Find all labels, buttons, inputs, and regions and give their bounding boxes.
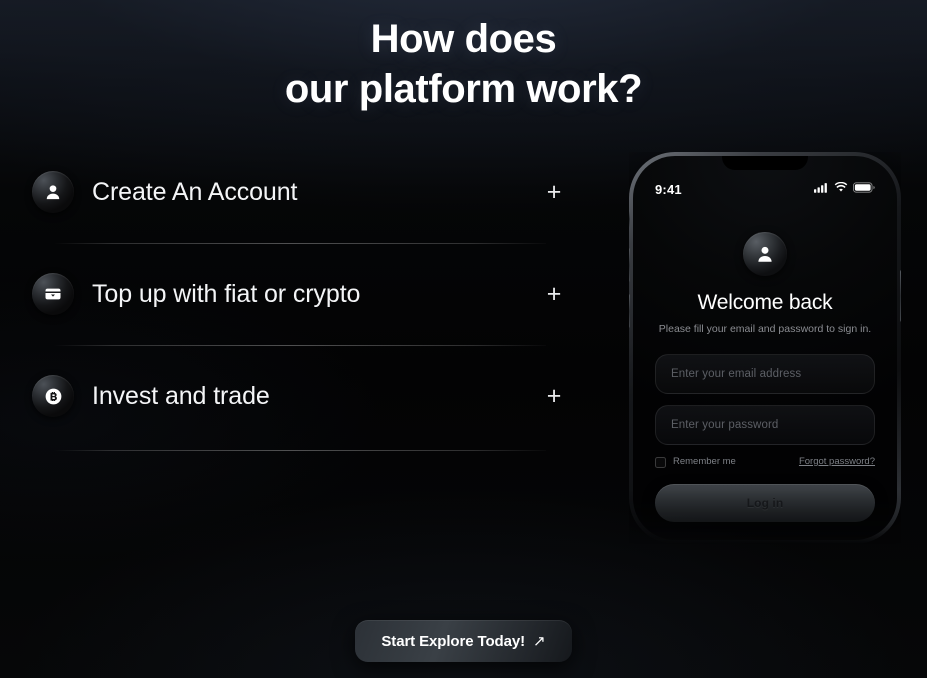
accordion-row[interactable]: Invest and trade + — [32, 364, 568, 428]
wallet-icon — [32, 273, 74, 315]
login-button-label: Log in — [747, 496, 784, 510]
volume-down-button[interactable] — [626, 294, 630, 328]
phone-mockup: 9:41 — [629, 152, 901, 544]
remember-me-checkbox[interactable]: Remember me — [655, 456, 736, 468]
accordion-expand-icon[interactable]: + — [542, 383, 568, 409]
login-subtitle: Please fill your email and password to s… — [655, 322, 875, 336]
login-title: Welcome back — [655, 290, 875, 316]
login-button[interactable]: Log in — [655, 484, 875, 522]
phone-frame: 9:41 — [629, 152, 901, 544]
accordion-list: Create An Account + Top up with fiat or … — [32, 160, 568, 469]
bitcoin-icon — [32, 375, 74, 417]
email-field[interactable]: Enter your email address — [655, 354, 875, 394]
remember-me-label: Remember me — [673, 456, 736, 468]
accordion-item-label: Create An Account — [92, 177, 542, 207]
battery-icon — [853, 180, 875, 198]
headline-line-2: our platform work? — [0, 64, 927, 114]
status-bar: 9:41 — [633, 180, 897, 198]
password-field[interactable]: Enter your password — [655, 405, 875, 445]
power-button[interactable] — [900, 270, 904, 322]
page-root: How does our platform work? Create An Ac… — [0, 0, 927, 678]
form-meta-row: Remember me Forgot password? — [655, 456, 875, 468]
accordion-expand-icon[interactable]: + — [542, 179, 568, 205]
status-time: 9:41 — [655, 182, 682, 197]
forgot-password-link[interactable]: Forgot password? — [799, 456, 875, 468]
start-explore-today-button[interactable]: Start Explore Today! ↗ — [355, 620, 571, 662]
accordion-row[interactable]: Create An Account + — [32, 160, 568, 224]
accordion-item-label: Invest and trade — [92, 381, 542, 411]
divider — [54, 243, 546, 244]
email-field-placeholder: Enter your email address — [671, 367, 801, 381]
volume-up-button[interactable] — [626, 248, 630, 282]
accordion-expand-icon[interactable]: + — [542, 281, 568, 307]
accordion-item-label: Top up with fiat or crypto — [92, 279, 542, 309]
wifi-icon — [834, 180, 848, 198]
user-avatar-icon — [743, 232, 787, 276]
accordion-row[interactable]: Top up with fiat or crypto + — [32, 262, 568, 326]
checkbox-box[interactable] — [655, 457, 666, 468]
arrow-up-right-icon: ↗ — [533, 634, 546, 649]
user-icon — [32, 171, 74, 213]
page-title: How does our platform work? — [0, 14, 927, 114]
accordion-item-invest-and-trade[interactable]: Invest and trade + — [32, 364, 568, 451]
cta-container: Start Explore Today! ↗ — [0, 620, 927, 662]
phone-screen: 9:41 — [633, 156, 897, 540]
dynamic-island — [722, 156, 808, 170]
divider — [54, 345, 546, 346]
password-field-placeholder: Enter your password — [671, 418, 778, 432]
status-icons — [814, 180, 875, 198]
cta-label: Start Explore Today! — [381, 633, 525, 650]
accordion-item-create-an-account[interactable]: Create An Account + — [32, 160, 568, 244]
accordion-item-top-up-with-fiat-or-crypto[interactable]: Top up with fiat or crypto + — [32, 262, 568, 346]
cellular-icon — [814, 180, 829, 198]
divider — [54, 450, 546, 451]
headline-line-1: How does — [0, 14, 927, 64]
login-screen: Welcome back Please fill your email and … — [633, 232, 897, 522]
silent-switch-button[interactable] — [627, 210, 630, 228]
